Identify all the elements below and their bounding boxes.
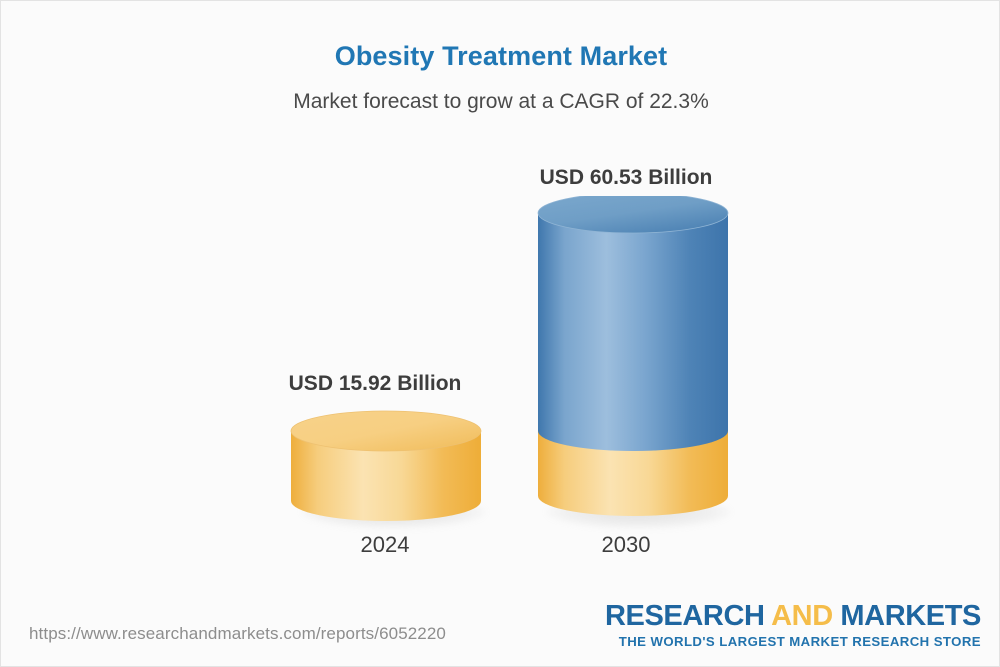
bar-value-label-2024: USD 15.92 Billion (275, 372, 475, 396)
logo-wordmark: RESEARCH AND MARKETS (605, 601, 981, 631)
logo-word-research: RESEARCH (605, 600, 771, 632)
bar-category-label-2030: 2030 (531, 532, 721, 558)
bar-cylinder-2030 (531, 196, 741, 526)
logo-word-and: AND (771, 600, 840, 632)
logo-tagline: THE WORLD'S LARGEST MARKET RESEARCH STOR… (605, 634, 981, 649)
chart-subtitle: Market forecast to grow at a CAGR of 22.… (1, 90, 1000, 114)
chart-canvas: Obesity Treatment Market Market forecast… (0, 0, 1000, 667)
bar-category-label-2024: 2024 (290, 532, 480, 558)
logo-word-markets: MARKETS (840, 600, 981, 632)
source-url[interactable]: https://www.researchandmarkets.com/repor… (29, 624, 446, 644)
chart-title: Obesity Treatment Market (1, 41, 1000, 72)
bar-cylinder-2024 (283, 406, 493, 526)
bar-value-label-2030: USD 60.53 Billion (526, 166, 726, 190)
research-and-markets-logo: RESEARCH AND MARKETS THE WORLD'S LARGEST… (605, 601, 981, 649)
